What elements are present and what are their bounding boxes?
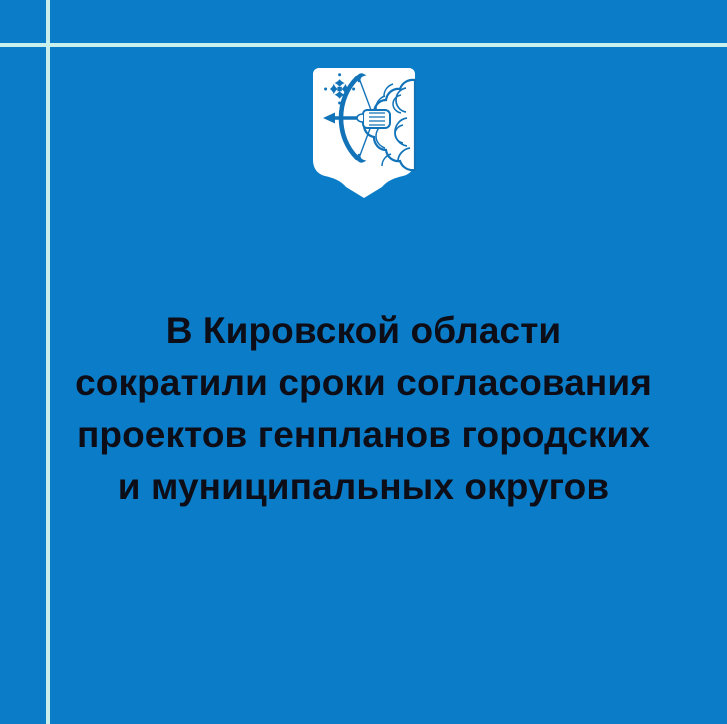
headline-line-2: сократили сроки согласования (48, 357, 679, 409)
page-title: В Кировской области сократили сроки согл… (48, 305, 679, 513)
kirov-oblast-coat-of-arms-icon (311, 66, 417, 200)
headline-line-3: проектов генпланов городских (48, 409, 679, 461)
headline-line-4: и муниципальных округов (48, 461, 679, 513)
horizontal-guide-line (0, 43, 727, 47)
announcement-card: В Кировской области сократили сроки согл… (0, 0, 727, 724)
headline-line-1: В Кировской области (48, 305, 679, 357)
